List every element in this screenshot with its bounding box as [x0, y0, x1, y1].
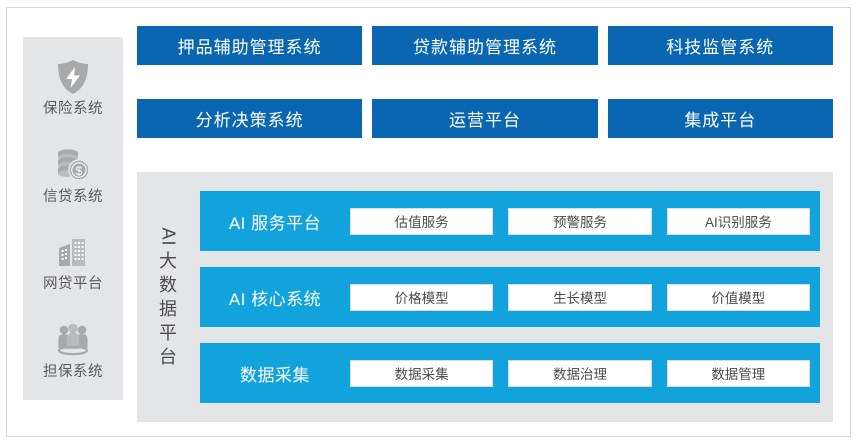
chip-guzhi-fuwu[interactable]: 估值服务: [350, 208, 493, 235]
vertical-char-shu: 数: [159, 276, 178, 294]
coins-dollar-icon: $: [52, 144, 94, 186]
platform-row-chips: 估值服务 预警服务 AI识别服务: [350, 208, 810, 235]
architecture-diagram: 保险系统 $ 信贷系统: [0, 0, 857, 444]
chip-ai-shibie-fuwu[interactable]: AI识别服务: [667, 208, 810, 235]
system-bar-daikuan[interactable]: 贷款辅助管理系统: [372, 26, 597, 65]
vertical-char-ai: AI: [159, 227, 177, 246]
sidebar-item-online-loan[interactable]: 网贷平台: [23, 231, 123, 293]
shield-bolt-icon: [52, 56, 94, 98]
platform-row-core: AI 核心系统 价格模型 生长模型 价值模型: [200, 267, 820, 327]
platform-row-service: AI 服务平台 估值服务 预警服务 AI识别服务: [200, 191, 820, 251]
platform-row-chips: 数据采集 数据治理 数据管理: [350, 360, 810, 387]
platform-row-title: 数据采集: [200, 361, 350, 386]
platform-row-title: AI 核心系统: [200, 285, 350, 310]
sidebar-item-guarantee[interactable]: 担保系统: [23, 319, 123, 381]
platform-row-title: AI 服务平台: [200, 209, 350, 234]
platform-rows: AI 服务平台 估值服务 预警服务 AI识别服务 AI 核心系统 价格模型 生长…: [200, 191, 820, 403]
sidebar-item-credit[interactable]: $ 信贷系统: [23, 144, 123, 206]
vertical-char-da: 大: [159, 252, 178, 270]
ai-bigdata-platform-panel: AI 大 数 据 平 台 AI 服务平台 估值服务 预警服务 AI识别服务 AI…: [137, 172, 833, 422]
chip-shuju-guanli[interactable]: 数据管理: [667, 360, 810, 387]
system-bar-fenxi[interactable]: 分析决策系统: [137, 99, 362, 138]
chip-jiazhi-moxing[interactable]: 价值模型: [667, 284, 810, 311]
top-systems-row-1: 押品辅助管理系统 贷款辅助管理系统 科技监管系统: [137, 26, 833, 65]
sidebar: 保险系统 $ 信贷系统: [23, 37, 123, 400]
sidebar-item-label: 网贷平台: [43, 277, 103, 293]
sidebar-item-insurance[interactable]: 保险系统: [23, 56, 123, 118]
platform-row-data: 数据采集 数据采集 数据治理 数据管理: [200, 343, 820, 403]
system-bar-yapin[interactable]: 押品辅助管理系统: [137, 26, 362, 65]
chip-yujing-fuwu[interactable]: 预警服务: [508, 208, 651, 235]
vertical-char-tai: 台: [159, 348, 178, 366]
people-group-icon: [52, 319, 94, 361]
sidebar-item-label: 信贷系统: [43, 190, 103, 206]
chip-shengzhang-moxing[interactable]: 生长模型: [508, 284, 651, 311]
system-bar-keji[interactable]: 科技监管系统: [608, 26, 833, 65]
buildings-icon: [52, 231, 94, 273]
system-bar-yunying[interactable]: 运营平台: [372, 99, 597, 138]
platform-row-chips: 价格模型 生长模型 价值模型: [350, 284, 810, 311]
system-bar-jicheng[interactable]: 集成平台: [608, 99, 833, 138]
vertical-char-ping: 平: [159, 324, 178, 342]
svg-text:$: $: [76, 164, 83, 178]
sidebar-item-label: 保险系统: [43, 102, 103, 118]
chip-shuju-zhili[interactable]: 数据治理: [508, 360, 651, 387]
vertical-char-ju: 据: [159, 300, 178, 318]
chip-jiage-moxing[interactable]: 价格模型: [350, 284, 493, 311]
top-systems-row-2: 分析决策系统 运营平台 集成平台: [137, 99, 833, 138]
sidebar-item-label: 担保系统: [43, 365, 103, 381]
platform-vertical-label: AI 大 数 据 平 台: [137, 191, 200, 403]
chip-shuju-caiji[interactable]: 数据采集: [350, 360, 493, 387]
